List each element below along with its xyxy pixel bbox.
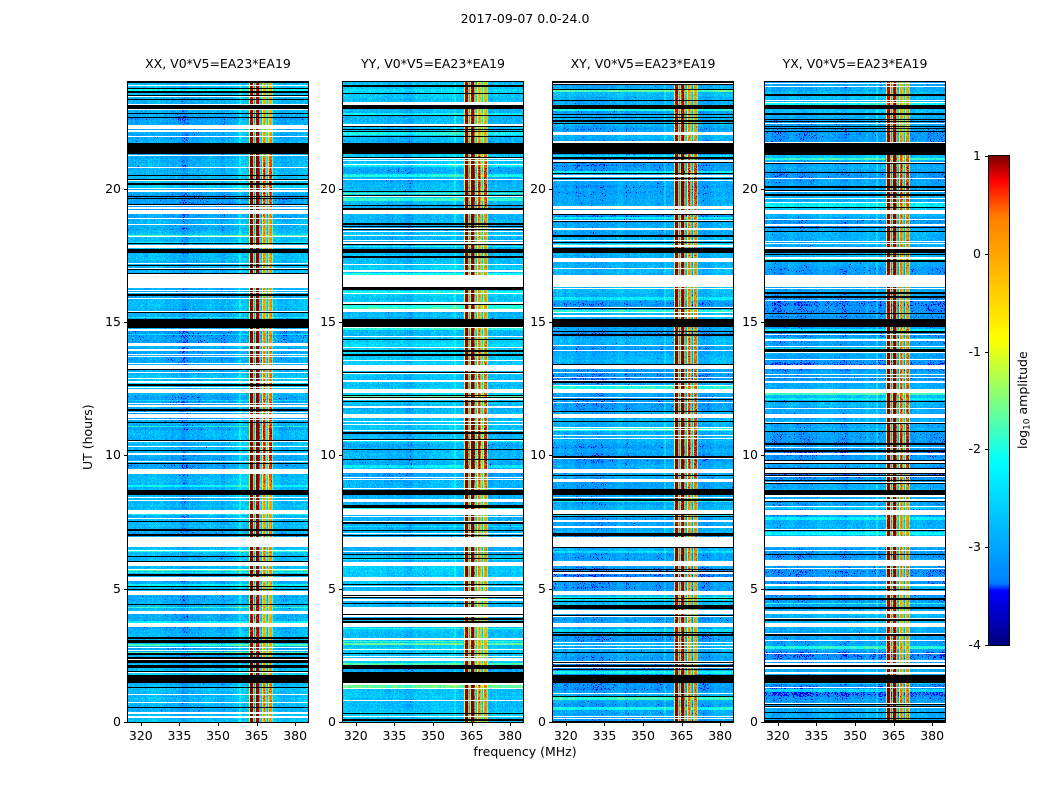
x-tick-label: 380 — [480, 728, 540, 743]
x-tick-mark — [433, 722, 434, 726]
spectrogram-image-xy — [553, 82, 733, 722]
x-tick-mark — [356, 722, 357, 726]
y-tick-label: 10 — [491, 447, 546, 462]
figure-canvas: 2017-09-07 0.0-24.0 XX, V0*V5=EA23*EA19Y… — [0, 0, 1050, 800]
y-tick-label: 10 — [703, 447, 758, 462]
spectrogram-image-yx — [765, 82, 945, 722]
y-tick-label: 20 — [491, 181, 546, 196]
panel-title-xx: XX, V0*V5=EA23*EA19 — [128, 56, 308, 71]
spectrogram-image-yy — [343, 82, 523, 722]
y-tick-mark — [124, 189, 128, 190]
x-tick-mark — [855, 722, 856, 726]
y-tick-label: 5 — [66, 581, 121, 596]
spectrogram-image-xx — [128, 82, 308, 722]
x-tick-mark — [816, 722, 817, 726]
y-tick-label: 0 — [491, 714, 546, 729]
x-tick-mark — [257, 722, 258, 726]
y-tick-label: 0 — [281, 714, 336, 729]
y-tick-label: 5 — [491, 581, 546, 596]
x-tick-mark — [566, 722, 567, 726]
x-tick-mark — [179, 722, 180, 726]
spectrogram-yy[interactable] — [342, 81, 524, 723]
colorbar-tick-mark — [985, 254, 989, 255]
colorbar-tick-label: 0 — [933, 246, 981, 261]
colorbar-tick-label: -1 — [933, 344, 981, 359]
panel-title-xy: XY, V0*V5=EA23*EA19 — [553, 56, 733, 71]
x-tick-mark — [141, 722, 142, 726]
x-tick-mark — [218, 722, 219, 726]
y-tick-mark — [339, 722, 343, 723]
x-tick-mark — [604, 722, 605, 726]
x-tick-mark — [643, 722, 644, 726]
colorbar-tick-mark — [985, 449, 989, 450]
y-tick-label: 20 — [281, 181, 336, 196]
y-tick-label: 15 — [281, 314, 336, 329]
y-tick-mark — [761, 322, 765, 323]
y-tick-mark — [339, 455, 343, 456]
y-tick-mark — [339, 322, 343, 323]
colorbar-label-suffix: amplitude — [1015, 351, 1030, 418]
y-tick-label: 20 — [703, 181, 758, 196]
y-tick-label: 15 — [491, 314, 546, 329]
spectrogram-xx[interactable] — [127, 81, 309, 723]
y-tick-mark — [549, 589, 553, 590]
colorbar-label-prefix: log — [1015, 429, 1030, 448]
x-tick-mark — [894, 722, 895, 726]
spectrogram-xy[interactable] — [552, 81, 734, 723]
colorbar-label-subscript: 10 — [1022, 418, 1032, 429]
x-tick-mark — [472, 722, 473, 726]
colorbar-label: log10 amplitude — [1015, 351, 1032, 449]
y-tick-mark — [339, 189, 343, 190]
y-tick-label: 0 — [66, 714, 121, 729]
colorbar-tick-label: -2 — [933, 441, 981, 456]
y-tick-mark — [124, 589, 128, 590]
colorbar-tick-label: 1 — [933, 148, 981, 163]
y-tick-mark — [549, 322, 553, 323]
colorbar-tick-mark — [985, 645, 989, 646]
y-tick-label: 15 — [703, 314, 758, 329]
y-tick-mark — [761, 589, 765, 590]
y-tick-mark — [124, 322, 128, 323]
colorbar-tick-label: -3 — [933, 539, 981, 554]
y-tick-mark — [549, 722, 553, 723]
x-tick-label: 380 — [690, 728, 750, 743]
y-tick-label: 10 — [66, 447, 121, 462]
y-tick-label: 5 — [281, 581, 336, 596]
y-tick-mark — [761, 455, 765, 456]
panel-title-yx: YX, V0*V5=EA23*EA19 — [765, 56, 945, 71]
colorbar-tick-mark — [985, 352, 989, 353]
panel-title-yy: YY, V0*V5=EA23*EA19 — [343, 56, 523, 71]
spectrogram-yx[interactable] — [764, 81, 946, 723]
colorbar[interactable] — [988, 155, 1010, 646]
y-tick-mark — [124, 455, 128, 456]
y-tick-mark — [549, 189, 553, 190]
y-tick-mark — [761, 189, 765, 190]
colorbar-tick-mark — [985, 547, 989, 548]
y-tick-label: 15 — [66, 314, 121, 329]
colorbar-gradient — [989, 156, 1009, 645]
x-tick-label: 380 — [265, 728, 325, 743]
x-tick-label: 380 — [902, 728, 962, 743]
y-tick-label: 0 — [703, 714, 758, 729]
colorbar-tick-mark — [985, 156, 989, 157]
y-tick-mark — [124, 722, 128, 723]
x-tick-mark — [778, 722, 779, 726]
y-tick-mark — [339, 589, 343, 590]
y-tick-label: 20 — [66, 181, 121, 196]
x-axis-label: frequency (MHz) — [0, 744, 1050, 759]
x-tick-mark — [932, 722, 933, 726]
y-tick-label: 10 — [281, 447, 336, 462]
x-tick-mark — [394, 722, 395, 726]
figure-suptitle: 2017-09-07 0.0-24.0 — [0, 11, 1050, 26]
y-tick-label: 5 — [703, 581, 758, 596]
y-tick-mark — [761, 722, 765, 723]
y-tick-mark — [549, 455, 553, 456]
colorbar-tick-label: -4 — [933, 637, 981, 652]
x-tick-mark — [682, 722, 683, 726]
